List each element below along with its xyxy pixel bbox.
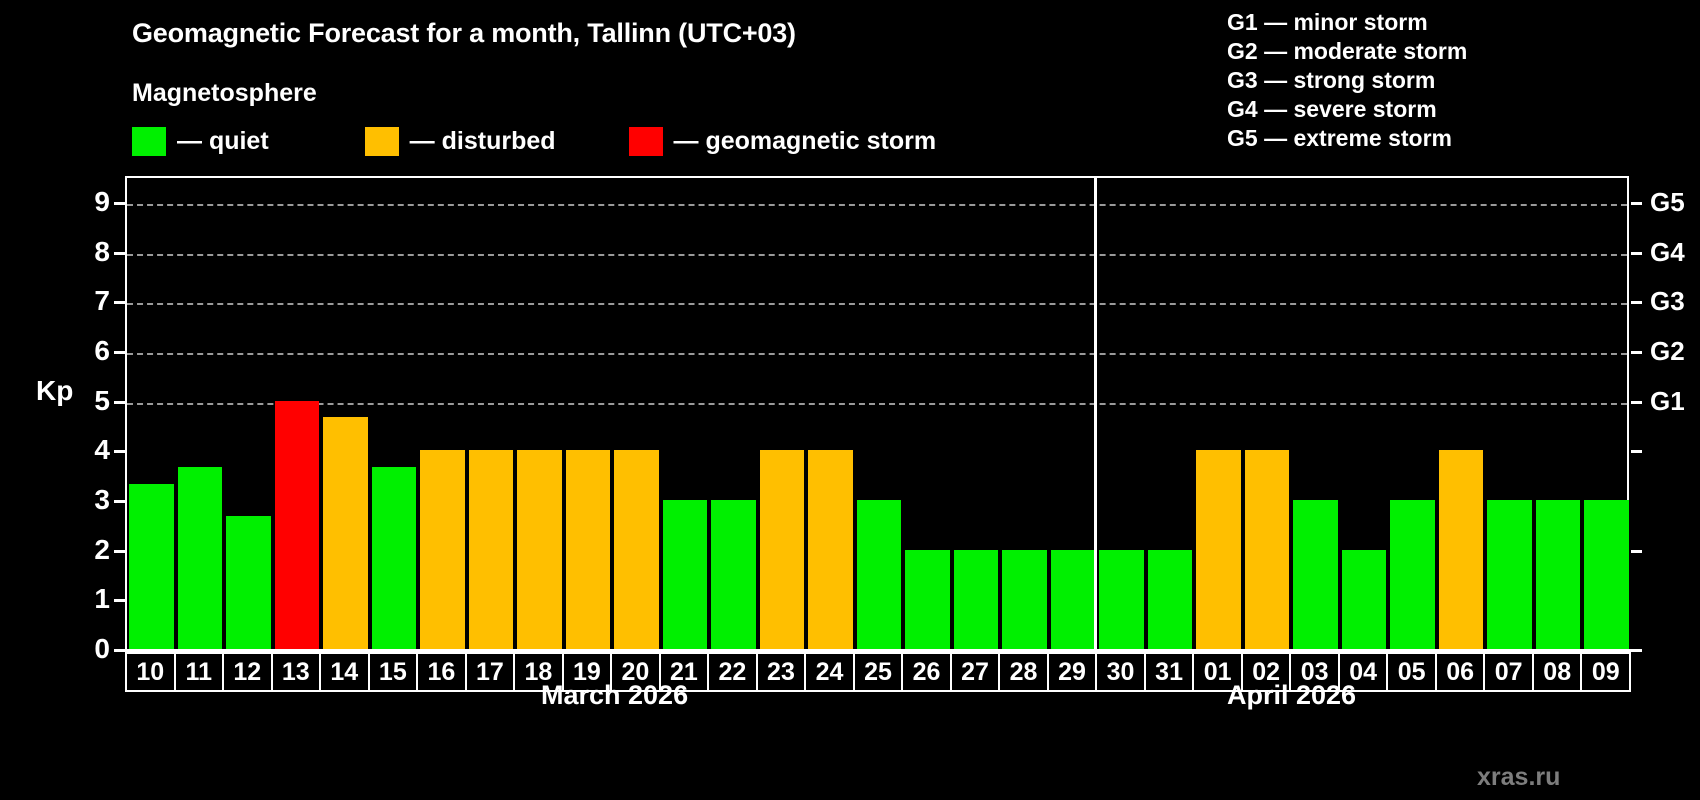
bar-fill: [857, 500, 902, 649]
bar-fill: [129, 484, 174, 649]
right-tick-G2: [1631, 351, 1642, 354]
bar-fill: [954, 550, 999, 649]
y-tick-label-6: 6: [94, 337, 110, 365]
y-tick-4: [114, 450, 125, 453]
day-label-11: 11: [174, 652, 225, 692]
magnetosphere-label: Magnetosphere: [132, 79, 317, 108]
bar-fill: [614, 450, 659, 649]
day-label-09: 09: [1580, 652, 1631, 692]
day-label-12: 12: [222, 652, 273, 692]
bar-17[interactable]: [469, 178, 514, 649]
bar-04[interactable]: [1342, 178, 1387, 649]
swatch-storm-icon: [629, 127, 663, 156]
storm-scale-g3: G3 — strong storm: [1227, 66, 1467, 95]
day-label-22: 22: [707, 652, 758, 692]
bar-fill: [1002, 550, 1047, 649]
day-label-26: 26: [901, 652, 952, 692]
bar-fill: [1536, 500, 1581, 649]
bar-24[interactable]: [808, 178, 853, 649]
bar-30[interactable]: [1099, 178, 1144, 649]
storm-scale-legend: G1 — minor storm G2 — moderate storm G3 …: [1227, 8, 1467, 153]
bar-fill: [517, 450, 562, 649]
right-tick-label-G4: G4: [1650, 239, 1685, 265]
storm-scale-g1: G1 — minor storm: [1227, 8, 1467, 37]
day-label-25: 25: [853, 652, 904, 692]
y-tick-0: [114, 649, 125, 652]
day-label-row: 1011121314151617181920212223242526272829…: [125, 652, 1631, 692]
bar-fill: [1293, 500, 1338, 649]
swatch-disturbed-icon: [365, 127, 399, 156]
day-label-10: 10: [125, 652, 176, 692]
right-tick-G3: [1631, 301, 1642, 304]
bar-29[interactable]: [1051, 178, 1096, 649]
bar-fill: [178, 467, 223, 649]
right-tick-label-G1: G1: [1650, 388, 1685, 414]
right-tick-G1: [1631, 401, 1642, 404]
bar-06[interactable]: [1439, 178, 1484, 649]
bar-14[interactable]: [323, 178, 368, 649]
geomagnetic-forecast-chart: Geomagnetic Forecast for a month, Tallin…: [0, 0, 1700, 800]
day-label-14: 14: [319, 652, 370, 692]
day-label-13: 13: [271, 652, 322, 692]
bar-13[interactable]: [275, 178, 320, 649]
bar-fill: [905, 550, 950, 649]
bar-22[interactable]: [711, 178, 756, 649]
legend-label-storm: — geomagnetic storm: [674, 127, 937, 156]
day-label-16: 16: [416, 652, 467, 692]
bar-fill: [711, 500, 756, 649]
watermark: xras.ru: [1477, 763, 1560, 792]
bar-fill: [760, 450, 805, 649]
bar-fill: [1390, 500, 1435, 649]
bar-21[interactable]: [663, 178, 708, 649]
bar-03[interactable]: [1293, 178, 1338, 649]
day-label-30: 30: [1095, 652, 1146, 692]
bar-18[interactable]: [517, 178, 562, 649]
bar-fill: [808, 450, 853, 649]
month-divider: [1094, 176, 1097, 651]
bar-19[interactable]: [566, 178, 611, 649]
y-tick-6: [114, 351, 125, 354]
y-axis-title: Kp: [36, 375, 73, 407]
swatch-quiet-icon: [132, 127, 166, 156]
y-tick-label-9: 9: [94, 188, 110, 216]
bar-fill: [1342, 550, 1387, 649]
y-tick-label-3: 3: [94, 486, 110, 514]
bar-fill: [663, 500, 708, 649]
right-minor-tick-kp-2: [1631, 550, 1642, 553]
bar-fill: [1487, 500, 1532, 649]
legend-item-quiet: — quiet: [132, 127, 269, 156]
legend-label-quiet: — quiet: [177, 127, 269, 156]
bar-05[interactable]: [1390, 178, 1435, 649]
y-tick-7: [114, 301, 125, 304]
y-tick-label-2: 2: [94, 536, 110, 564]
y-tick-8: [114, 252, 125, 255]
y-tick-label-0: 0: [94, 635, 110, 663]
bar-11[interactable]: [178, 178, 223, 649]
bar-fill: [1196, 450, 1241, 649]
right-tick-label-G2: G2: [1650, 338, 1685, 364]
bar-01[interactable]: [1196, 178, 1241, 649]
bar-16[interactable]: [420, 178, 465, 649]
day-label-17: 17: [465, 652, 516, 692]
bar-fill: [469, 450, 514, 649]
legend-item-disturbed: — disturbed: [365, 127, 556, 156]
bar-31[interactable]: [1148, 178, 1193, 649]
bar-10[interactable]: [129, 178, 174, 649]
bar-15[interactable]: [372, 178, 417, 649]
legend-label-disturbed: — disturbed: [410, 127, 556, 156]
bar-fill: [1245, 450, 1290, 649]
month-caption-april: April 2026: [1227, 680, 1356, 711]
right-tick-G4: [1631, 252, 1642, 255]
right-tick-G5: [1631, 202, 1642, 205]
bar-25[interactable]: [857, 178, 902, 649]
bar-28[interactable]: [1002, 178, 1047, 649]
bar-26[interactable]: [905, 178, 950, 649]
storm-scale-g2: G2 — moderate storm: [1227, 37, 1467, 66]
right-tick-label-G3: G3: [1650, 288, 1685, 314]
bar-fill: [1584, 500, 1629, 649]
page-title: Geomagnetic Forecast for a month, Tallin…: [132, 18, 796, 49]
y-tick-1: [114, 599, 125, 602]
storm-scale-g5: G5 — extreme storm: [1227, 124, 1467, 153]
day-label-15: 15: [368, 652, 419, 692]
day-label-05: 05: [1386, 652, 1437, 692]
y-tick-label-5: 5: [94, 387, 110, 415]
bar-fill: [420, 450, 465, 649]
storm-scale-g4: G4 — severe storm: [1227, 95, 1467, 124]
bar-fill: [226, 516, 271, 649]
y-tick-label-7: 7: [94, 287, 110, 315]
day-label-27: 27: [950, 652, 1001, 692]
bars-layer: [127, 178, 1627, 649]
right-tick-label-G5: G5: [1650, 189, 1685, 215]
y-tick-label-4: 4: [94, 436, 110, 464]
right-minor-tick-kp-0: [1631, 649, 1642, 652]
bar-02[interactable]: [1245, 178, 1290, 649]
bar-fill: [1051, 550, 1096, 649]
y-tick-label-8: 8: [94, 238, 110, 266]
bar-23[interactable]: [760, 178, 805, 649]
y-tick-3: [114, 500, 125, 503]
bar-27[interactable]: [954, 178, 999, 649]
bar-08[interactable]: [1536, 178, 1581, 649]
day-label-28: 28: [998, 652, 1049, 692]
y-tick-label-1: 1: [94, 585, 110, 613]
y-tick-9: [114, 202, 125, 205]
bar-fill: [1439, 450, 1484, 649]
bar-09[interactable]: [1584, 178, 1629, 649]
month-caption-march: March 2026: [541, 680, 688, 711]
bar-07[interactable]: [1487, 178, 1532, 649]
bar-fill: [275, 401, 320, 649]
y-tick-5: [114, 401, 125, 404]
bar-fill: [372, 467, 417, 649]
day-label-07: 07: [1483, 652, 1534, 692]
day-label-08: 08: [1532, 652, 1583, 692]
bar-20[interactable]: [614, 178, 659, 649]
bar-fill: [566, 450, 611, 649]
day-label-31: 31: [1144, 652, 1195, 692]
right-minor-tick-kp-4: [1631, 450, 1642, 453]
color-legend: — quiet — disturbed — geomagnetic storm: [132, 126, 936, 156]
day-label-29: 29: [1047, 652, 1098, 692]
day-label-06: 06: [1435, 652, 1486, 692]
bar-fill: [1099, 550, 1144, 649]
bar-fill: [323, 417, 368, 649]
day-label-23: 23: [756, 652, 807, 692]
day-label-24: 24: [804, 652, 855, 692]
y-tick-2: [114, 550, 125, 553]
bar-12[interactable]: [226, 178, 271, 649]
bar-fill: [1148, 550, 1193, 649]
legend-item-storm: — geomagnetic storm: [629, 127, 937, 156]
